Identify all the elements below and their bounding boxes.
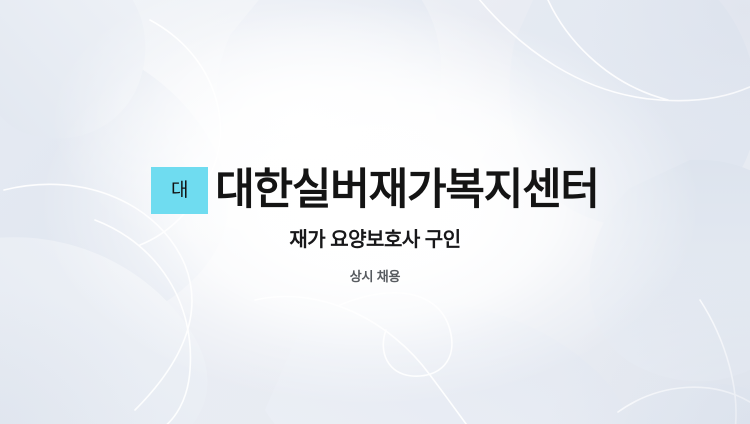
organization-title-row: 대 대한실버재가복지센터 — [0, 140, 750, 241]
org-initial-badge-label: 대 — [171, 181, 188, 200]
hiring-status-caption: 상시 채용 — [0, 269, 750, 285]
recruitment-banner: 대 대한실버재가복지센터 재가 요양보호사 구인 상시 채용 — [0, 0, 750, 424]
org-initial-badge-icon: 대 — [151, 167, 208, 214]
job-headline: 재가 요양보호사 구인 — [0, 228, 750, 252]
organization-name: 대한실버재가복지센터 — [215, 169, 599, 212]
banner-content: 대 대한실버재가복지센터 재가 요양보호사 구인 상시 채용 — [0, 0, 750, 424]
